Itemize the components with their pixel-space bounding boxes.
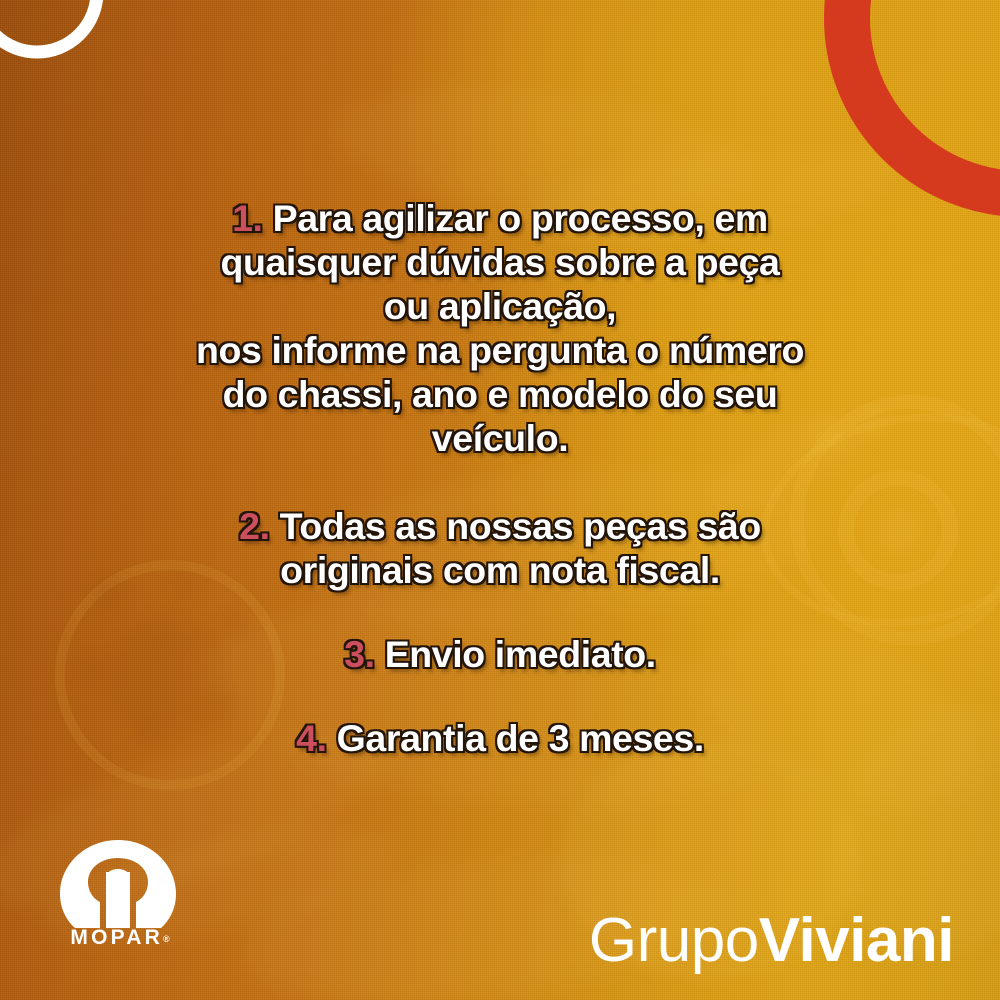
instruction-line-4-1: Garantia de 3 meses. bbox=[337, 717, 704, 759]
instruction-line-1-4: nos informe na pergunta o número bbox=[196, 329, 804, 371]
instruction-item-4: 4. Garantia de 3 meses. bbox=[70, 716, 930, 760]
instruction-line-1-1: Para agilizar o processo, em bbox=[273, 197, 768, 239]
instruction-item-1: 1. Para agilizar o processo, em quaisque… bbox=[70, 196, 930, 460]
spacer-2 bbox=[70, 592, 930, 632]
instruction-line-1-6: veículo. bbox=[432, 417, 568, 459]
instruction-number-3: 3. bbox=[344, 633, 374, 675]
mopar-wordmark: MOPAR® bbox=[50, 926, 190, 950]
brand-light-part: Grupo bbox=[589, 906, 759, 975]
spacer-1 bbox=[70, 460, 930, 504]
instructions-block: 1. Para agilizar o processo, em quaisque… bbox=[0, 196, 1000, 760]
instruction-number-4: 4. bbox=[296, 717, 326, 759]
instruction-line-1-5: do chassi, ano e modelo do seu bbox=[223, 373, 778, 415]
instruction-line-2-2: originais com nota fiscal. bbox=[280, 549, 720, 591]
spacer-3 bbox=[70, 676, 930, 716]
instruction-line-1-2: quaisquer dúvidas sobre a peça bbox=[220, 241, 779, 283]
brand-logotype: GrupoViviani bbox=[589, 910, 954, 972]
instruction-line-3-1: Envio imediato. bbox=[385, 633, 656, 675]
instruction-line-1-3: ou aplicação, bbox=[384, 285, 616, 327]
mopar-wordmark-text: MOPAR bbox=[70, 926, 163, 949]
mopar-omega-m-icon bbox=[42, 838, 194, 934]
instruction-item-3: 3. Envio imediato. bbox=[70, 632, 930, 676]
poster-canvas: 1. Para agilizar o processo, em quaisque… bbox=[0, 0, 1000, 1000]
mopar-logo: MOPAR® bbox=[42, 838, 194, 960]
instruction-item-2: 2. Todas as nossas peças são originais c… bbox=[70, 504, 930, 592]
registered-trademark-symbol: ® bbox=[163, 934, 170, 944]
instruction-number-1: 1. bbox=[232, 197, 262, 239]
instruction-number-2: 2. bbox=[239, 505, 269, 547]
instruction-line-2-1: Todas as nossas peças são bbox=[280, 505, 761, 547]
brand-bold-part: Viviani bbox=[759, 906, 954, 975]
